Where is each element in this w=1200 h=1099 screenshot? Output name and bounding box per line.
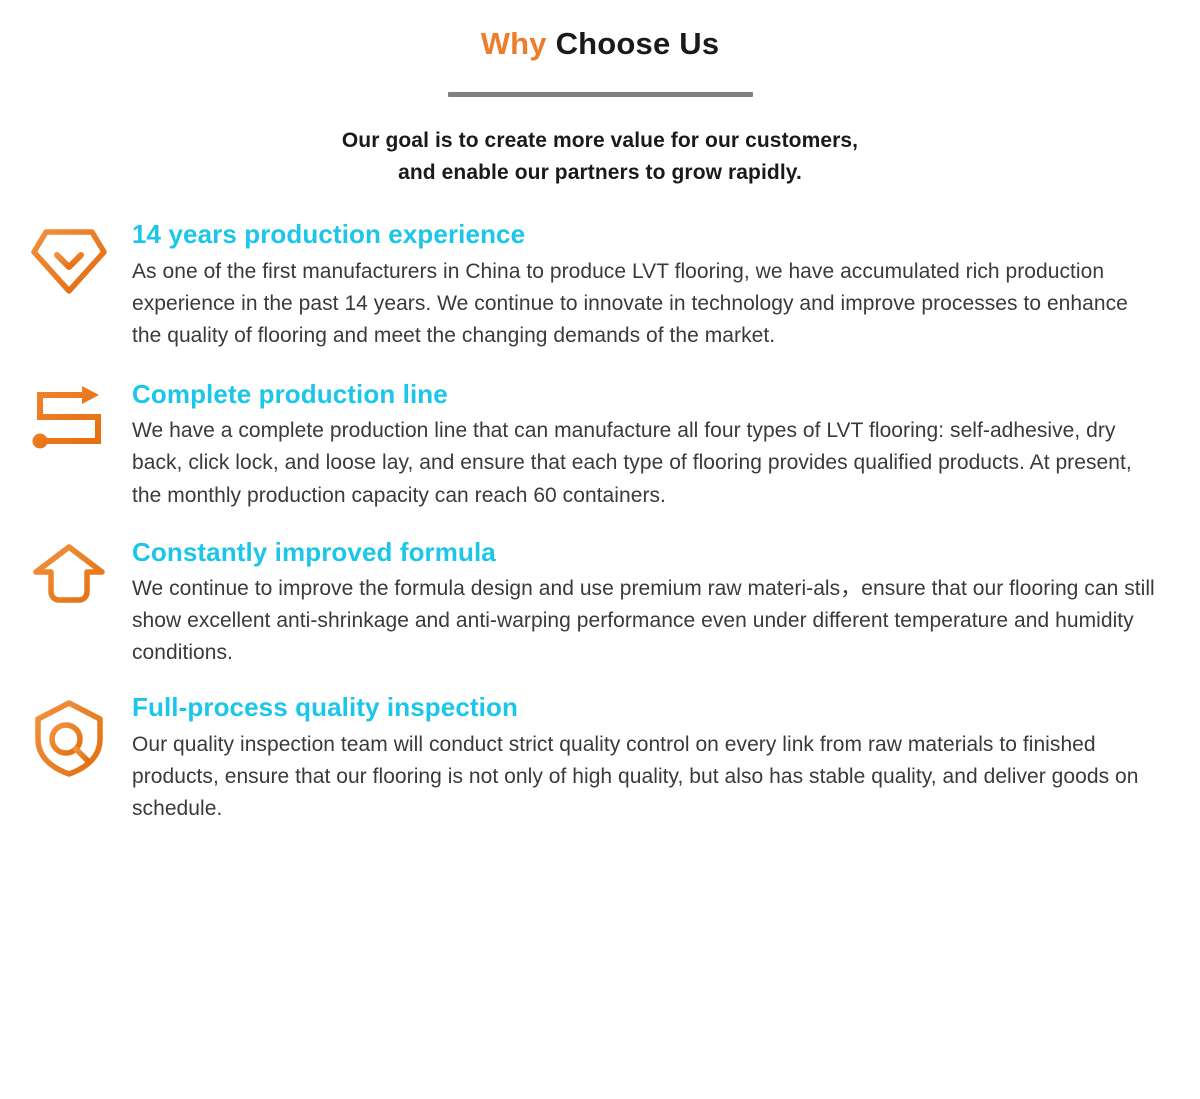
feature-text: Our quality inspection team will conduct…	[132, 729, 1160, 825]
diamond-check-icon	[28, 218, 132, 298]
feature-body: Full-process quality inspection Our qual…	[132, 691, 1170, 825]
feature-heading: 14 years production experience	[132, 218, 1160, 251]
feature-item: Complete production line We have a compl…	[28, 378, 1170, 512]
feature-text: We continue to improve the formula desig…	[132, 573, 1160, 669]
page-subtitle-line-1: Our goal is to create more value for our…	[0, 125, 1200, 157]
feature-list: 14 years production experience As one of…	[0, 218, 1200, 825]
feature-text: We have a complete production line that …	[132, 415, 1160, 511]
title-divider	[448, 92, 753, 97]
production-line-arrow-icon	[28, 378, 132, 454]
page-title: Why Choose Us	[0, 26, 1200, 62]
page-header: Why Choose Us Our goal is to create more…	[0, 0, 1200, 188]
page-subtitle-line-2: and enable our partners to grow rapidly.	[0, 157, 1200, 189]
feature-body: 14 years production experience As one of…	[132, 218, 1170, 352]
feature-item: Constantly improved formula We continue …	[28, 536, 1170, 670]
feature-body: Constantly improved formula We continue …	[132, 536, 1170, 670]
shield-magnifier-icon	[28, 691, 132, 779]
feature-item: 14 years production experience As one of…	[28, 218, 1170, 352]
feature-body: Complete production line We have a compl…	[132, 378, 1170, 512]
page-title-accent: Why	[481, 26, 547, 61]
feature-heading: Constantly improved formula	[132, 536, 1160, 569]
feature-text: As one of the first manufacturers in Chi…	[132, 256, 1160, 352]
feature-heading: Full-process quality inspection	[132, 691, 1160, 724]
feature-heading: Complete production line	[132, 378, 1160, 411]
up-arrow-boost-icon	[28, 536, 132, 622]
feature-item: Full-process quality inspection Our qual…	[28, 691, 1170, 825]
page-subtitle: Our goal is to create more value for our…	[0, 125, 1200, 189]
page-title-rest: Choose Us	[547, 26, 720, 61]
title-divider-wrapper	[0, 92, 1200, 97]
why-choose-us-page: Why Choose Us Our goal is to create more…	[0, 0, 1200, 1099]
